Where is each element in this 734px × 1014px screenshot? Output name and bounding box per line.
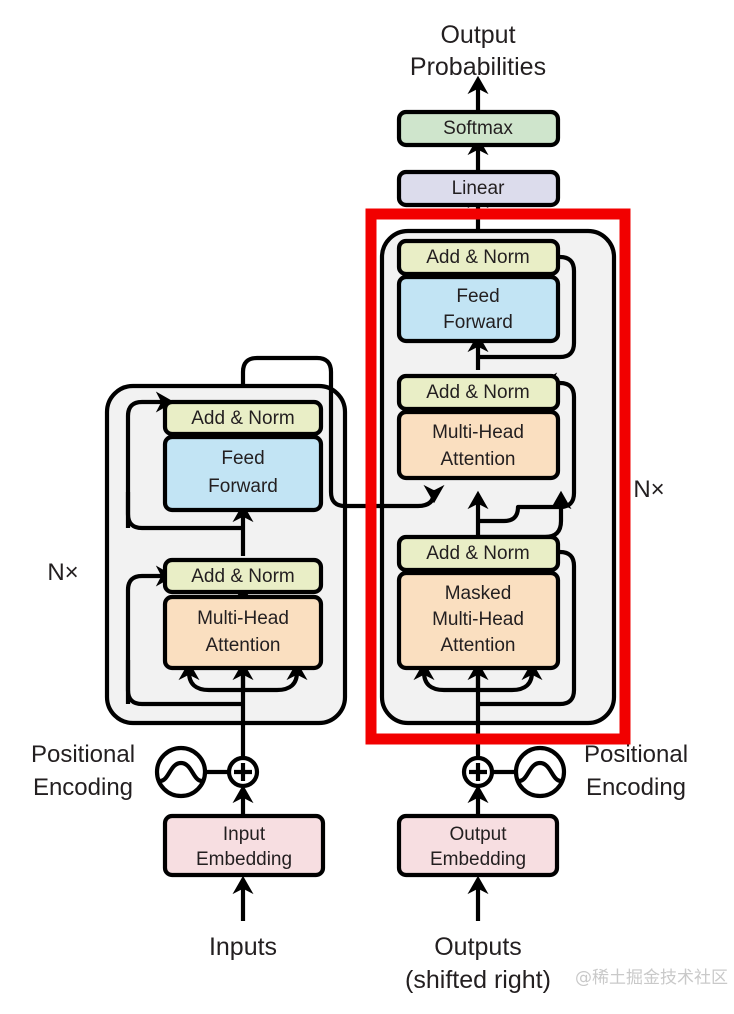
decoder-positional-label-2: Encoding xyxy=(586,774,686,801)
encoder-input-embedding-block[interactable]: Input Embedding xyxy=(165,816,323,875)
decoder-block-add-norm-2[interactable]: Add & Norm xyxy=(399,376,558,409)
decoder-add-norm-2-label: Add & Norm xyxy=(426,382,529,403)
encoder-block-multi-head-attention[interactable]: Multi-Head Attention xyxy=(165,597,321,668)
input-embedding-label-2: Embedding xyxy=(196,849,292,870)
encoder-attention-label-2: Attention xyxy=(206,635,281,656)
softmax-label: Softmax xyxy=(443,118,513,139)
decoder-repeat-label: N× xyxy=(633,476,664,503)
encoder-attention-label-1: Multi-Head xyxy=(197,608,289,629)
decoder-block-add-norm-3[interactable]: Add & Norm xyxy=(399,241,558,274)
decoder-add-norm-1-label: Add & Norm xyxy=(426,543,529,564)
output-embedding-label-2: Embedding xyxy=(430,849,526,870)
decoder-positional-circle xyxy=(516,748,564,796)
output-probabilities-line-1: Output xyxy=(440,21,515,49)
encoder-add-norm-1-label: Add & Norm xyxy=(191,566,294,587)
encoder-feed-forward-label-2: Forward xyxy=(208,476,278,497)
encoder-add-norm-2-label: Add & Norm xyxy=(191,408,294,429)
decoder-feed-forward-label-1: Feed xyxy=(456,286,499,307)
decoder-feed-forward-label-2: Forward xyxy=(443,312,513,333)
watermark-text: @稀土掘金技术社区 xyxy=(575,968,728,988)
encoder-positional-label-2: Encoding xyxy=(33,774,133,801)
decoder-add-norm-3-label: Add & Norm xyxy=(426,247,529,268)
decoder-output-embedding-block[interactable]: Output Embedding xyxy=(399,816,557,875)
decoder-cross-attention-label-2: Attention xyxy=(441,449,516,470)
outputs-label-1: Outputs xyxy=(434,933,522,961)
encoder-block-add-norm-2[interactable]: Add & Norm xyxy=(165,402,321,434)
output-embedding-label-1: Output xyxy=(449,824,507,845)
decoder-cross-attention-label-1: Multi-Head xyxy=(432,422,524,443)
encoder-repeat-label: N× xyxy=(47,559,78,586)
encoder-positional-circle xyxy=(157,748,205,796)
outputs-label-2: (shifted right) xyxy=(405,966,551,994)
decoder-sum-node xyxy=(464,758,492,786)
input-embedding-label-1: Input xyxy=(223,824,266,845)
linear-label: Linear xyxy=(452,178,505,199)
decoder-block-feed-forward[interactable]: Feed Forward xyxy=(399,277,558,341)
decoder-block-add-norm-1[interactable]: Add & Norm xyxy=(399,537,558,570)
decoder-masked-attention-label-2: Multi-Head xyxy=(432,609,524,630)
inputs-label: Inputs xyxy=(209,933,277,961)
encoder-positional-encoding xyxy=(157,748,229,796)
encoder-feed-forward-label-1: Feed xyxy=(221,448,264,469)
encoder-positional-label-1: Positional xyxy=(31,741,135,768)
decoder-masked-attention-label-1: Masked xyxy=(445,583,512,604)
decoder-masked-attention-label-3: Attention xyxy=(441,635,516,656)
encoder-sum-node xyxy=(229,758,257,786)
transformer-architecture-diagram: Add & Norm Feed Forward Add & Norm Multi… xyxy=(0,0,734,1014)
softmax-block[interactable]: Softmax xyxy=(399,112,558,145)
decoder-positional-label-1: Positional xyxy=(584,741,688,768)
linear-block[interactable]: Linear xyxy=(399,172,558,205)
decoder-block-masked-attention[interactable]: Masked Multi-Head Attention xyxy=(399,573,558,668)
decoder-positional-encoding xyxy=(492,748,564,796)
encoder-block-add-norm-1[interactable]: Add & Norm xyxy=(165,560,321,592)
output-probabilities-line-2: Probabilities xyxy=(410,53,546,81)
encoder-block-feed-forward[interactable]: Feed Forward xyxy=(165,437,321,510)
decoder-block-cross-attention[interactable]: Multi-Head Attention xyxy=(399,412,558,478)
